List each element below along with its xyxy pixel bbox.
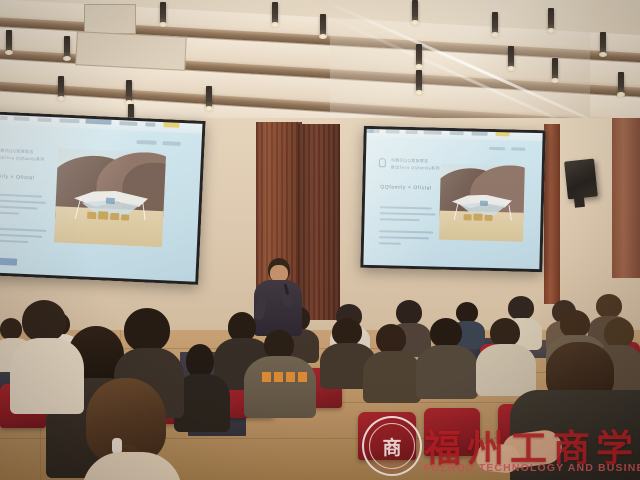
ceiling-duct-panel [75,31,187,71]
ceiling-spotlight [126,80,132,102]
ceiling-spotlight [160,2,166,24]
right-projection-screen[interactable]: 与腾讯QQ家族联名 推出Teva QQfamily系列 QQfamily × O… [360,126,545,272]
wood-wall-trim-right [544,124,560,304]
ceiling-spotlight [552,58,558,80]
lecture-hall-photo: 与腾讯QQ家族联名 推出Teva QQfamily系列 QQfamily × O… [0,0,640,480]
ceiling-spotlight [416,44,422,66]
chair [424,408,480,456]
ceiling-spotlight [548,8,554,30]
wall-speaker-icon [564,159,598,200]
ceiling-spotlight [320,14,326,36]
chair [358,412,416,460]
ceiling-spotlight [416,70,422,92]
presenter-with-microphone [252,258,304,336]
ceiling-spotlight [206,86,212,108]
ceiling-projector-box [84,4,136,34]
left-projection-screen[interactable]: 与腾讯QQ家族联名 推出Teva QQfamily系列 QQfamily × O… [0,111,206,285]
wood-wall-panel-center-2 [298,124,340,320]
ceiling-spotlight [64,36,70,58]
ceiling-spotlight [508,46,514,68]
wood-wall-trim-right-2 [612,118,640,278]
ceiling-spotlight [618,72,624,94]
ceiling-spotlight [412,0,418,22]
ceiling-spotlight [58,76,64,98]
ceiling-spotlight [600,32,606,54]
ceiling-spotlight [272,2,278,24]
ceiling-spotlight [492,12,498,34]
ceiling-spotlight [6,30,12,52]
